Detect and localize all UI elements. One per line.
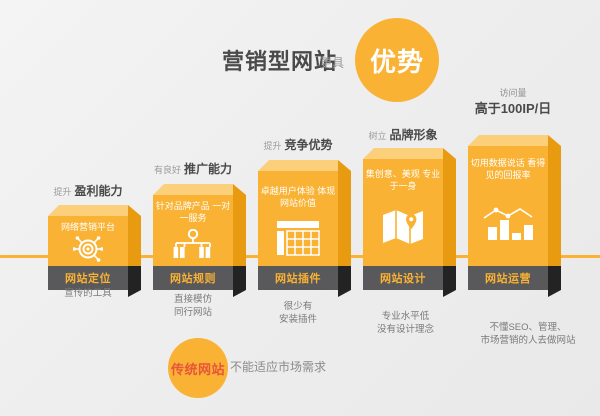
step-top-side: [338, 160, 351, 171]
step-band-label: 网站插件: [275, 270, 321, 286]
bar-line-chart-icon: [468, 198, 548, 244]
step-band-3: 网站插件: [258, 266, 338, 290]
step-band-label: 网站规则: [170, 270, 216, 286]
org-chart-icon: [153, 228, 233, 260]
step-band-2: 网站规则: [153, 266, 233, 290]
step-inner-text: 卓越用户体验 体现网站价值: [258, 185, 338, 209]
step-right-face: [443, 159, 456, 266]
step-band-side: [548, 266, 561, 290]
traditional-site-badge: 传统网站: [168, 338, 228, 398]
step-top-side: [443, 148, 456, 159]
step-inner-text: 集创意、美观 专业于一身: [363, 168, 443, 192]
step-band-side: [338, 266, 351, 290]
step-caption-4: 专业水平低 没有设计理念: [343, 310, 468, 336]
step-top-side: [233, 184, 246, 195]
step-band-label: 网站运营: [485, 270, 531, 286]
footer-note: 不能适应市场需求: [230, 358, 326, 375]
folded-map-pin-icon: [363, 206, 443, 248]
step-inner-text: 针对品牌产品 一对一服务: [153, 200, 233, 224]
step-heading-5: 访问量 高于100IP/日: [448, 86, 578, 116]
step-inner-text: 切用数据说话 看得见的回报率: [468, 157, 548, 181]
step-heading-2: 有良好推广能力: [128, 160, 258, 178]
step-band-side: [233, 266, 246, 290]
step-right-face: [128, 216, 141, 266]
step-right-face: [233, 195, 246, 266]
advantage-badge: 优势: [355, 18, 439, 102]
step-caption-5: 不懂SEO、管理、 市场营销的人去做网站: [460, 321, 596, 347]
step-caption-1: 宣传的工具: [28, 287, 148, 300]
step-heading-4: 树立品牌形象: [338, 126, 468, 144]
infographic-canvas: 营销型网站 更具 优势 提升盈利能力 有良好推广能力 提升竞争优势 树立品牌形象…: [0, 0, 600, 416]
step-top-bevel: [48, 205, 128, 216]
step-band-side: [443, 266, 456, 290]
step-band-label: 网站定位: [65, 270, 111, 286]
table-grid-icon: [258, 218, 338, 258]
step-band-label: 网站设计: [380, 270, 426, 286]
page-subtitle: 更具: [320, 54, 344, 71]
traditional-site-badge-label: 传统网站: [171, 359, 225, 378]
step-top-bevel: [363, 148, 443, 159]
step-right-face: [338, 171, 351, 266]
step-top-side: [128, 205, 141, 216]
step-caption-2: 直接模仿 同行网站: [133, 293, 253, 319]
step-caption-3: 很少有 安装插件: [238, 300, 358, 326]
step-top-bevel: [468, 135, 548, 146]
step-top-bevel: [153, 184, 233, 195]
step-band-5: 网站运营: [468, 266, 548, 290]
step-band-4: 网站设计: [363, 266, 443, 290]
target-network-icon: [48, 234, 128, 264]
step-inner-text: 网络营销平台: [48, 221, 128, 233]
step-heading-1: 提升盈利能力: [23, 182, 153, 200]
step-top-side: [548, 135, 561, 146]
advantage-badge-label: 优势: [370, 42, 424, 79]
step-right-face: [548, 146, 561, 266]
step-top-bevel: [258, 160, 338, 171]
